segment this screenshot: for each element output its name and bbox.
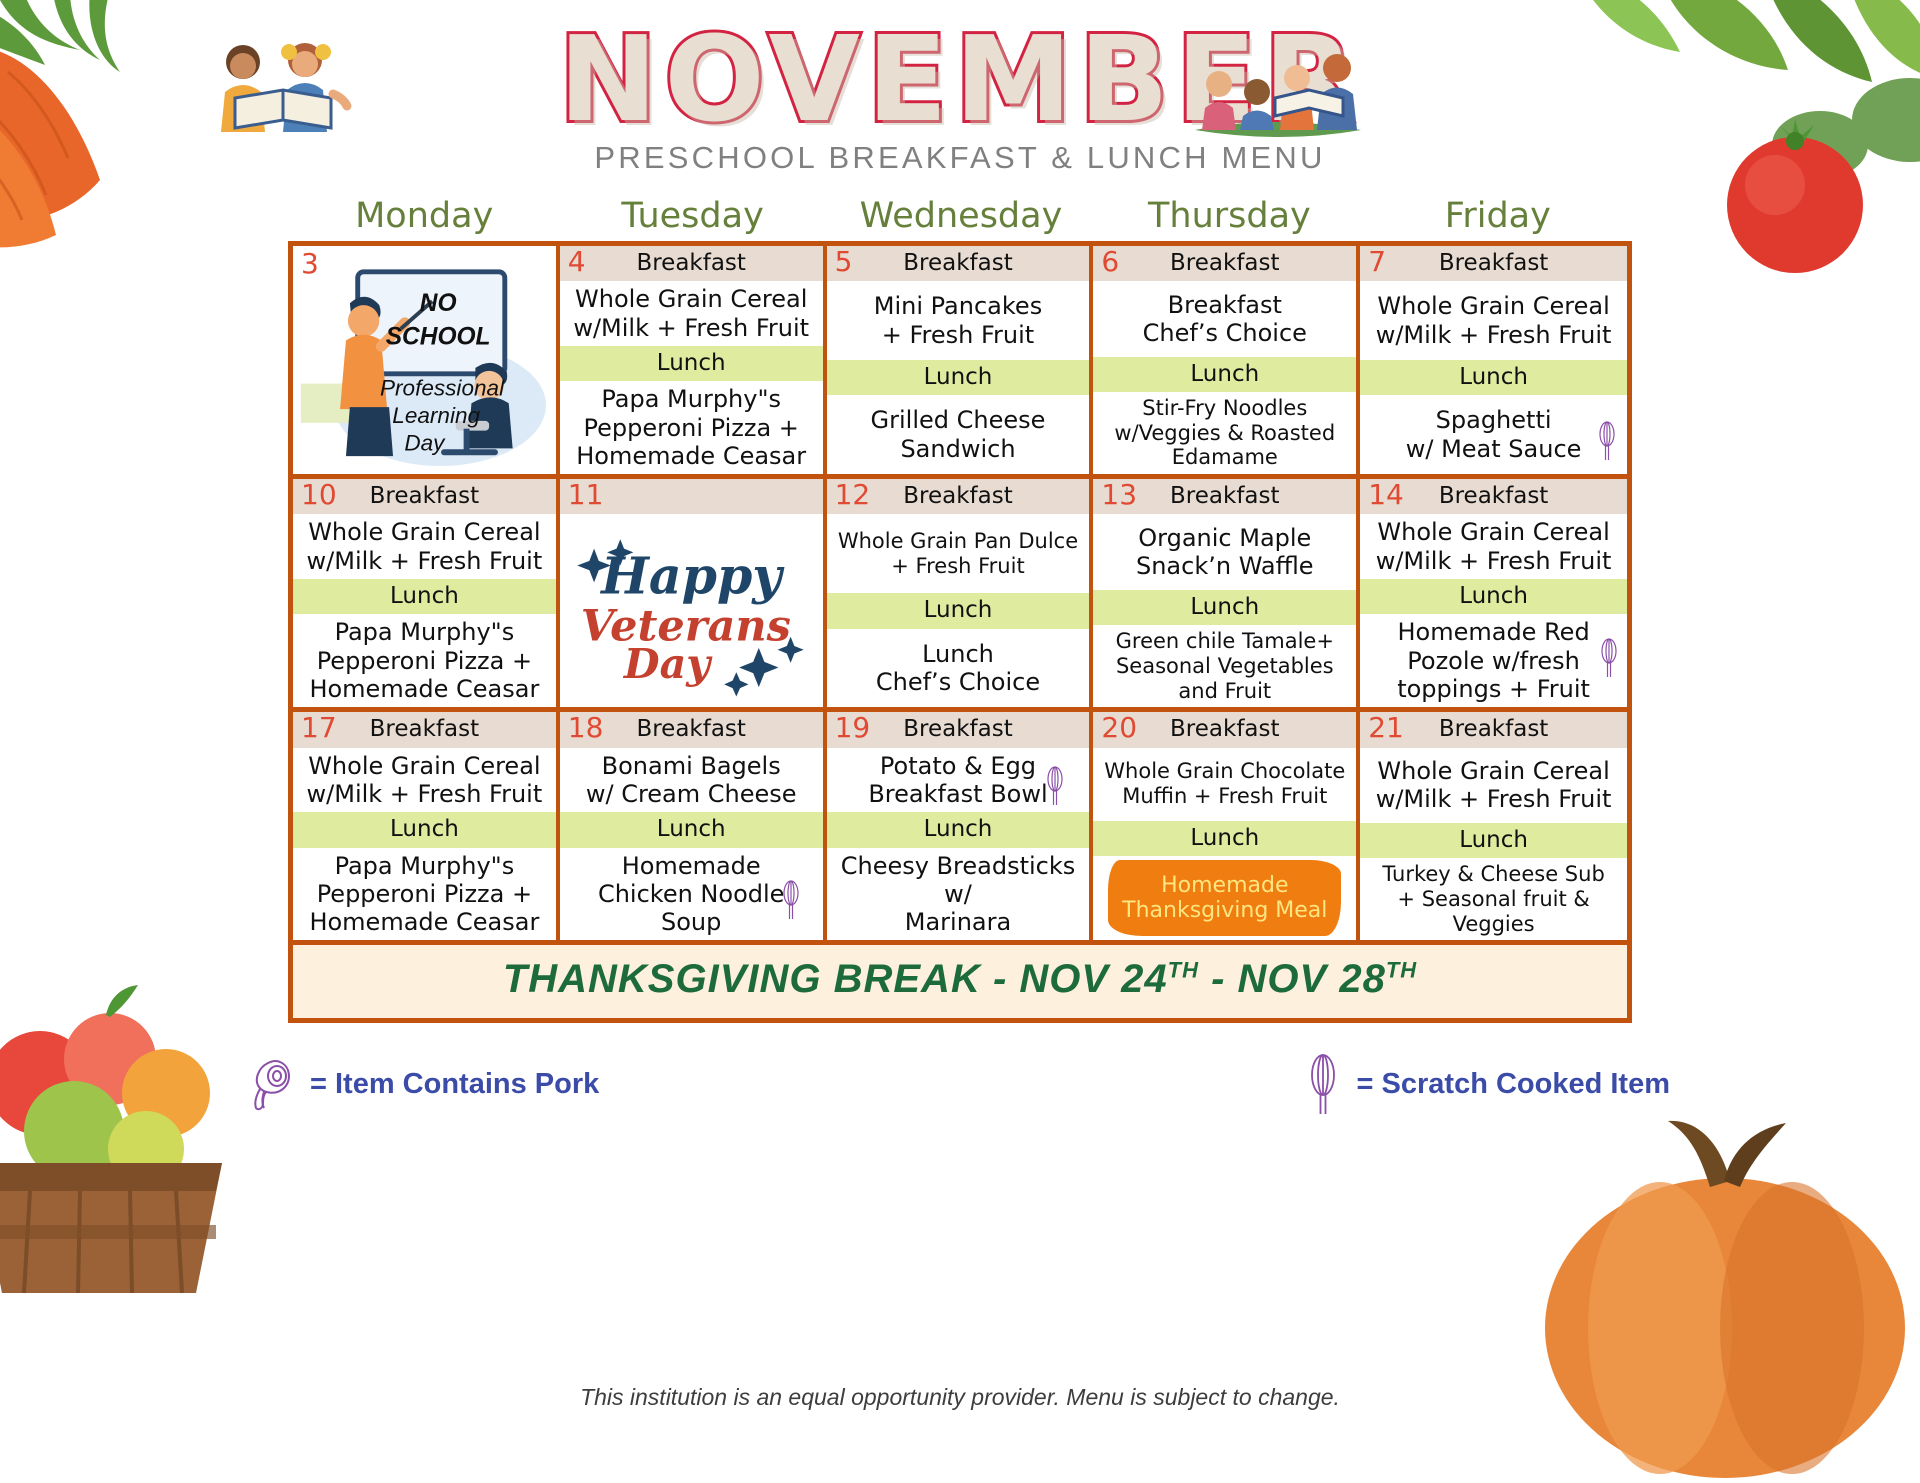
lunch-label: Lunch [924, 364, 993, 390]
week-row: 10 Breakfast Whole Grain Cerealw/Milk + … [293, 479, 1627, 712]
date-number: 11 [568, 480, 604, 511]
fruit-basket-decoration [0, 963, 280, 1303]
lunch-header: Lunch [293, 812, 556, 847]
whisk-icon [1597, 421, 1617, 461]
date-number: 21 [1368, 713, 1404, 744]
story-time-illustration [1185, 44, 1370, 149]
day-cell-18[interactable]: 18 Breakfast Bonami Bagelsw/ Cream Chees… [560, 712, 827, 940]
lunch-item: Cheesy Breadsticks w/Marinara [827, 848, 1090, 941]
lunch-item: Papa Murphy"sPepperoni Pizza +Homemade C… [560, 381, 823, 474]
breakfast-label: Breakfast [1439, 716, 1549, 742]
date-number: 20 [1101, 713, 1137, 744]
lunch-label: Lunch [924, 816, 993, 842]
lunch-label: Lunch [657, 816, 726, 842]
lunch-item: Papa Murphy"sPepperoni Pizza +Homemade C… [293, 848, 556, 941]
lunch-item: LunchChef’s Choice [827, 629, 1090, 708]
lunch-label: Lunch [1190, 825, 1259, 851]
day-cell-21[interactable]: 21 Breakfast Whole Grain Cerealw/Milk + … [1360, 712, 1627, 940]
no-school-line1: NO [420, 290, 457, 317]
veterans-day-content: Happy Veterans Day [560, 514, 823, 707]
breakfast-item: BreakfastChef’s Choice [1093, 281, 1356, 356]
whisk-icon [1599, 638, 1619, 678]
breakfast-label: Breakfast [903, 483, 1013, 509]
footer-disclaimer: This institution is an equal opportunity… [0, 1384, 1920, 1411]
menu-calendar: NO SCHOOL Professional Learning Day 3 4 … [288, 241, 1632, 945]
day-cell-17[interactable]: 17 Breakfast Whole Grain Cerealw/Milk + … [293, 712, 560, 940]
lunch-label: Lunch [390, 583, 459, 609]
lunch-item: Grilled CheeseSandwich [827, 395, 1090, 474]
date-number: 12 [835, 480, 871, 511]
lunch-label: Lunch [1190, 361, 1259, 387]
date-number: 3 [301, 247, 319, 280]
ham-icon [250, 1056, 294, 1112]
lunch-header: Lunch [1093, 357, 1356, 392]
lunch-label: Lunch [657, 350, 726, 376]
breakfast-header: 20 Breakfast [1093, 712, 1356, 747]
breakfast-header: 13 Breakfast [1093, 479, 1356, 514]
breakfast-label: Breakfast [1170, 716, 1280, 742]
date-number: 14 [1368, 480, 1404, 511]
veterans-line1: Happy [599, 547, 785, 606]
breakfast-header: 10 Breakfast [293, 479, 556, 514]
lunch-header: Lunch [827, 360, 1090, 395]
day-cell-10[interactable]: 10 Breakfast Whole Grain Cerealw/Milk + … [293, 479, 560, 707]
lunch-label: Lunch [924, 597, 993, 623]
lunch-label: Lunch [1459, 583, 1528, 609]
breakfast-label: Breakfast [370, 483, 480, 509]
whisk-icon [1045, 766, 1065, 806]
day-cell-7[interactable]: 7 Breakfast Whole Grain Cerealw/Milk + F… [1360, 246, 1627, 474]
page-header: NOVEMBER PRESCHOOL BREAKFAST & LUNCH MEN… [0, 0, 1920, 196]
breakfast-label: Breakfast [1439, 250, 1549, 276]
lunch-item: HomemadeChicken NoodleSoup [560, 848, 823, 941]
lunch-header: Lunch [827, 812, 1090, 847]
legend-scratch-label: = Scratch Cooked Item [1357, 1068, 1670, 1101]
lunch-item: HomemadeThanksgiving Meal [1093, 856, 1356, 941]
day-cell-14[interactable]: 14 Breakfast Whole Grain Cerealw/Milk + … [1360, 479, 1627, 707]
breakfast-header: 19 Breakfast [827, 712, 1090, 747]
breakfast-label: Breakfast [903, 250, 1013, 276]
day-cell-5[interactable]: 5 Breakfast Mini Pancakes+ Fresh Fruit L… [827, 246, 1094, 474]
breakfast-label: Breakfast [903, 716, 1013, 742]
day-cell-12[interactable]: 12 Breakfast Whole Grain Pan Dulce+ Fres… [827, 479, 1094, 707]
breakfast-item: Whole Grain Cerealw/Milk + Fresh Fruit [1360, 281, 1627, 360]
date-number: 7 [1368, 247, 1386, 278]
lunch-item: Turkey & Cheese Sub+ Seasonal fruit & Ve… [1360, 858, 1627, 940]
lunch-header: Lunch [1093, 590, 1356, 625]
breakfast-header: 6 Breakfast [1093, 246, 1356, 281]
breakfast-label: Breakfast [1170, 483, 1280, 509]
lunch-header: Lunch [1360, 360, 1627, 395]
lunch-item: Homemade RedPozole w/freshtoppings + Fru… [1360, 614, 1627, 707]
breakfast-item: Whole Grain Pan Dulce+ Fresh Fruit [827, 514, 1090, 593]
breakfast-header: 5 Breakfast [827, 246, 1090, 281]
lunch-label: Lunch [1459, 364, 1528, 390]
breakfast-item: Organic MapleSnack’n Waffle [1093, 514, 1356, 589]
date-number: 10 [301, 480, 337, 511]
week-row: 17 Breakfast Whole Grain Cerealw/Milk + … [293, 712, 1627, 940]
date-number: 18 [568, 713, 604, 744]
breakfast-header: 4 Breakfast [560, 246, 823, 281]
dayname-tuesday: Tuesday [558, 196, 826, 241]
lunch-item: Stir-Fry Noodlesw/Veggies & RoastedEdama… [1093, 392, 1356, 474]
breakfast-item: Potato & EggBreakfast Bowl [827, 748, 1090, 813]
lunch-item: Spaghettiw/ Meat Sauce [1360, 395, 1627, 474]
breakfast-item: Whole Grain Cerealw/Milk + Fresh Fruit [1360, 748, 1627, 823]
whisk-icon [781, 880, 801, 920]
date-number: 5 [835, 247, 853, 278]
legend: = Item Contains Pork = Scratch Cooked It… [250, 1053, 1670, 1115]
legend-scratch: = Scratch Cooked Item [1305, 1053, 1670, 1115]
break-text: THANKSGIVING BREAK - NOV 24TH - NOV 28TH [503, 957, 1417, 1001]
week-row: NO SCHOOL Professional Learning Day 3 4 … [293, 246, 1627, 479]
day-cell-13[interactable]: 13 Breakfast Organic MapleSnack’n Waffle… [1093, 479, 1360, 707]
breakfast-header: 7 Breakfast [1360, 246, 1627, 281]
date-number: 19 [835, 713, 871, 744]
dayname-monday: Monday [290, 196, 558, 241]
breakfast-item: Bonami Bagelsw/ Cream Cheese [560, 748, 823, 813]
breakfast-label: Breakfast [636, 716, 746, 742]
dayname-thursday: Thursday [1095, 196, 1363, 241]
veterans-line3: Day [623, 639, 713, 688]
lunch-header: Lunch [560, 346, 823, 381]
date-number: 6 [1101, 247, 1119, 278]
dayname-wednesday: Wednesday [827, 196, 1095, 241]
breakfast-header: 18 Breakfast [560, 712, 823, 747]
breakfast-item: Whole Grain Cerealw/Milk + Fresh Fruit [293, 748, 556, 813]
day-cell-19[interactable]: 19 Breakfast Potato & EggBreakfast Bowl … [827, 712, 1094, 940]
breakfast-header: 21 Breakfast [1360, 712, 1627, 747]
breakfast-header: 14 Breakfast [1360, 479, 1627, 514]
breakfast-item: Whole Grain Cerealw/Milk + Fresh Fruit [1360, 514, 1627, 579]
thanksgiving-meal-banner: HomemadeThanksgiving Meal [1108, 860, 1341, 937]
breakfast-label: Breakfast [1439, 483, 1549, 509]
date-number: 13 [1101, 480, 1137, 511]
lunch-item: Green chile Tamale+Seasonal Vegetablesan… [1093, 625, 1356, 707]
lunch-label: Lunch [1459, 827, 1528, 853]
breakfast-header: 11 [560, 479, 823, 514]
lunch-header: Lunch [1360, 823, 1627, 858]
breakfast-label: Breakfast [636, 250, 746, 276]
breakfast-item: Mini Pancakes+ Fresh Fruit [827, 281, 1090, 360]
kids-reading-illustration [205, 32, 360, 147]
lunch-item: Papa Murphy"sPepperoni Pizza +Homemade C… [293, 614, 556, 707]
breakfast-item: Whole Grain Cerealw/Milk + Fresh Fruit [560, 281, 823, 346]
whisk-icon [1305, 1053, 1341, 1115]
day-cell-4[interactable]: 4 Breakfast Whole Grain Cerealw/Milk + F… [560, 246, 827, 474]
pld-line1: Professional [380, 375, 505, 400]
lunch-header: Lunch [1360, 579, 1627, 614]
legend-pork-label: = Item Contains Pork [310, 1068, 599, 1101]
pld-line3: Day [404, 430, 446, 455]
breakfast-item: Whole Grain ChocolateMuffin + Fresh Frui… [1093, 748, 1356, 821]
lunch-header: Lunch [560, 812, 823, 847]
breakfast-header: 17 Breakfast [293, 712, 556, 747]
no-school-content: NO SCHOOL Professional Learning Day 3 [293, 246, 556, 474]
day-cell-20[interactable]: 20 Breakfast Whole Grain ChocolateMuffin… [1093, 712, 1360, 940]
weekday-header-row: Monday Tuesday Wednesday Thursday Friday [288, 196, 1632, 241]
lunch-header: Lunch [1093, 821, 1356, 856]
lunch-label: Lunch [1190, 594, 1259, 620]
lunch-label: Lunch [390, 816, 459, 842]
breakfast-label: Breakfast [370, 716, 480, 742]
date-number: 4 [568, 247, 586, 278]
pumpkin-decoration [1510, 1063, 1920, 1483]
date-number: 17 [301, 713, 337, 744]
legend-pork: = Item Contains Pork [250, 1056, 599, 1112]
day-cell-11[interactable]: 11 Happy Veterans Day [560, 479, 827, 707]
lunch-header: Lunch [293, 579, 556, 614]
day-cell-6[interactable]: 6 Breakfast BreakfastChef’s Choice Lunch… [1093, 246, 1360, 474]
lunch-header: Lunch [827, 593, 1090, 628]
thanksgiving-break-banner: THANKSGIVING BREAK - NOV 24TH - NOV 28TH [288, 945, 1632, 1023]
day-cell-3[interactable]: NO SCHOOL Professional Learning Day 3 [293, 246, 560, 474]
no-school-line2: SCHOOL [386, 323, 491, 350]
pld-line2: Learning [392, 403, 480, 428]
dayname-friday: Friday [1364, 196, 1632, 241]
breakfast-header: 12 Breakfast [827, 479, 1090, 514]
breakfast-label: Breakfast [1170, 250, 1280, 276]
breakfast-item: Whole Grain Cerealw/Milk + Fresh Fruit [293, 514, 556, 579]
